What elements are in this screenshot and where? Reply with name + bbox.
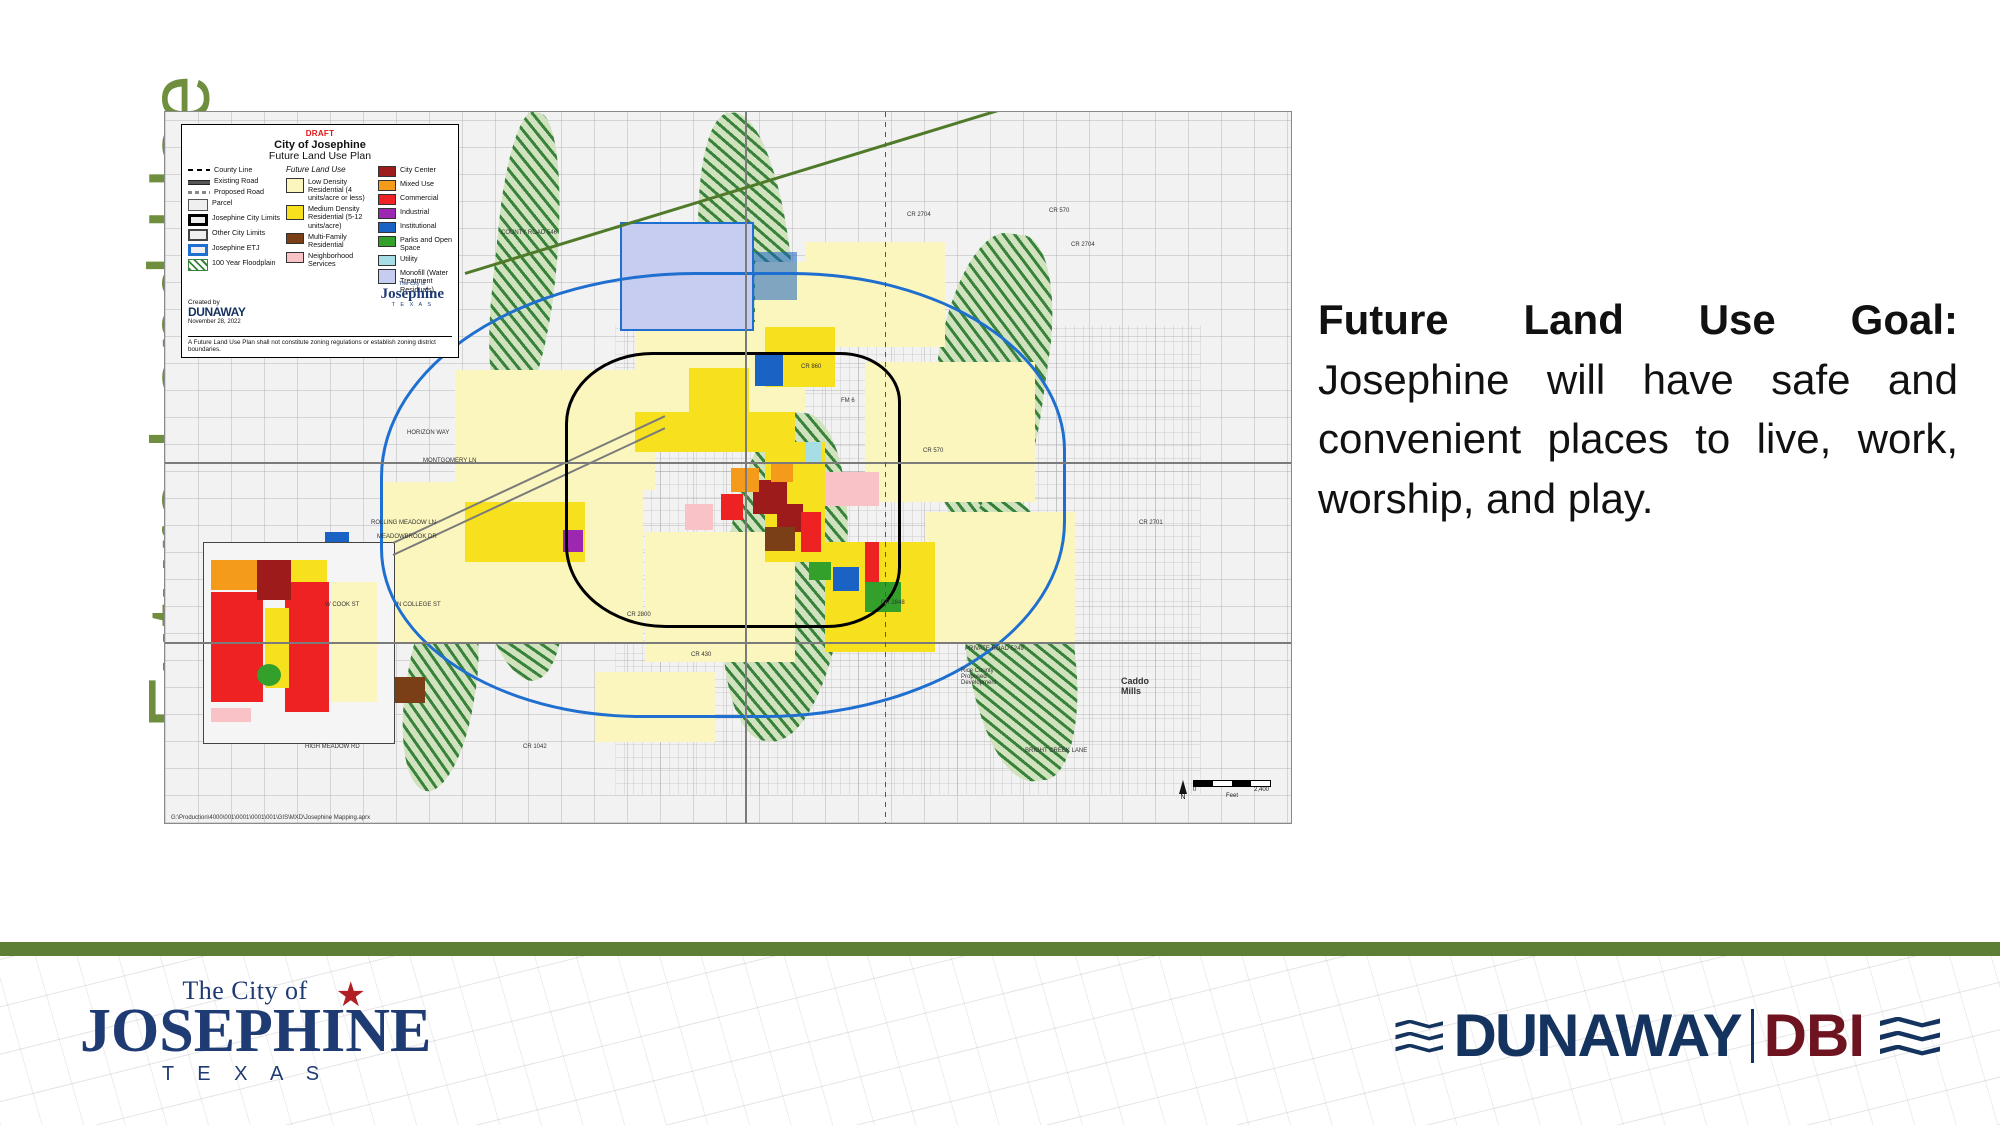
legend-title-plan: Future Land Use Plan	[188, 151, 452, 163]
legend-item-multi-family[interactable]: Multi-Family Residential	[286, 233, 372, 249]
legend-label: Commercial	[400, 194, 458, 202]
scale-bar-graphic	[1193, 780, 1271, 787]
map-label: CaddoMills	[1121, 676, 1149, 696]
multi-family-swatch-icon	[286, 233, 304, 244]
legend-date: November 28, 2022	[188, 319, 452, 326]
map-label: CR 430	[691, 652, 711, 658]
scale-bar: 0 2,400 Feet	[1193, 780, 1271, 799]
goal-body: Josephine will have safe and convenient …	[1318, 356, 1958, 522]
map-legend[interactable]: DRAFT City of Josephine Future Land Use …	[181, 124, 459, 358]
legend-label: Parks and Open Space	[400, 236, 458, 252]
map-label: CR 2800	[627, 612, 651, 618]
scale-unit: Feet	[1193, 793, 1271, 799]
north-arrow-icon	[1179, 780, 1187, 794]
legend-item-medium-density[interactable]: Medium Density Residential (5-12 units/a…	[286, 205, 372, 229]
scale-max: 2,400	[1254, 787, 1269, 793]
legend-label: Industrial	[400, 208, 458, 216]
legend-label: Institutional	[400, 222, 458, 230]
legend-city-logo-main: Josephine	[381, 287, 444, 302]
josephine-city-limits-icon	[188, 214, 208, 226]
legend-item-floodplain[interactable]: 100 Year Floodplain	[188, 259, 280, 271]
dunaway-waves-icon	[1395, 1020, 1443, 1053]
star-icon: ★	[336, 978, 366, 1012]
legend-draft-stamp: DRAFT	[188, 130, 452, 139]
utility-swatch-icon	[378, 255, 396, 266]
legend-item-industrial[interactable]: Industrial	[378, 208, 458, 219]
dunaway-dbi-logo: DUNAWAY DBI	[1395, 1006, 1940, 1066]
legend-label: Proposed Road	[214, 188, 280, 196]
legend-column-boundaries: County Line Existing Road Proposed Road …	[188, 166, 280, 297]
map-label: FM 6	[841, 398, 855, 404]
legend-item-city-center[interactable]: City Center	[378, 166, 458, 177]
map-label: ROLLING MEADOW LN	[371, 520, 436, 526]
low-density-swatch-icon	[286, 178, 304, 193]
map-label: HIGH MEADOW RD	[305, 744, 360, 750]
goal-colon: :	[1944, 296, 1958, 343]
map-label: CR 570	[923, 448, 943, 454]
map-label: Rice CountyProposedDevelopment	[961, 668, 996, 686]
dbi-wordmark: DBI	[1764, 1006, 1864, 1066]
map-label: BRIGHT CREEK LANE	[1025, 748, 1087, 754]
map-label: N COLLEGE ST	[397, 602, 441, 608]
north-arrow: N	[1179, 780, 1187, 801]
existing-road-icon	[188, 177, 210, 185]
legend-label: Medium Density Residential (5-12 units/a…	[308, 205, 372, 229]
inset-commercial	[211, 592, 263, 702]
other-city-limits-icon	[188, 229, 208, 241]
industrial-swatch-icon	[378, 208, 396, 219]
legend-label: Multi-Family Residential	[308, 233, 372, 249]
scale-min: 0	[1193, 787, 1196, 793]
road-line	[745, 112, 747, 824]
city-center-swatch-icon	[378, 166, 396, 177]
josephine-etj-icon	[188, 244, 208, 256]
map-canvas: COUNTY ROAD 546 CR 2704 CR 570 CR 2704 F…	[165, 112, 1291, 823]
legend-item-utility[interactable]: Utility	[378, 255, 458, 266]
legend-label: 100 Year Floodplain	[212, 259, 280, 267]
medium-density-swatch-icon	[286, 205, 304, 220]
legend-item-josephine-etj[interactable]: Josephine ETJ	[188, 244, 280, 256]
legend-item-parcel[interactable]: Parcel	[188, 199, 280, 211]
goal-statement: Future Land Use Goal: Josephine will hav…	[1318, 290, 1958, 529]
inset-medium-density	[291, 560, 327, 582]
legend-label: Existing Road	[214, 177, 280, 185]
legend-column-nonresidential: City Center Mixed Use Commercial Industr…	[378, 166, 458, 297]
north-arrow-label: N	[1179, 794, 1187, 801]
map-label: MONTGOMERY LN	[423, 458, 476, 464]
map-label: CR 570	[1049, 208, 1069, 214]
legend-city-logo-sub: T E X A S	[381, 302, 444, 308]
legend-item-existing-road[interactable]: Existing Road	[188, 177, 280, 185]
legend-item-josephine-city-limits[interactable]: Josephine City Limits	[188, 214, 280, 226]
legend-item-proposed-road[interactable]: Proposed Road	[188, 188, 280, 196]
map-label: CR 860	[801, 364, 821, 370]
map-label: CR 2704	[1071, 242, 1095, 248]
legend-label: Other City Limits	[212, 229, 280, 237]
future-land-use-map[interactable]: COUNTY ROAD 546 CR 2704 CR 570 CR 2704 F…	[164, 111, 1292, 824]
inset-commercial	[285, 582, 329, 712]
road-line	[165, 642, 1292, 644]
dbi-waves-icon	[1880, 1017, 1940, 1056]
map-label: HORIZON WAY	[407, 430, 449, 436]
legend-item-other-city-limits[interactable]: Other City Limits	[188, 229, 280, 241]
legend-label: City Center	[400, 166, 458, 174]
legend-item-neighborhood-services[interactable]: Neighborhood Services	[286, 252, 372, 268]
legend-item-low-density[interactable]: Low Density Residential (4 units/acre or…	[286, 178, 372, 202]
legend-item-institutional[interactable]: Institutional	[378, 222, 458, 233]
legend-label: County Line	[214, 166, 280, 174]
neighborhood-services-swatch-icon	[286, 252, 304, 263]
legend-item-parks-open-space[interactable]: Parks and Open Space	[378, 236, 458, 252]
map-label: CR 1042	[523, 744, 547, 750]
map-label: COUNTY ROAD 546	[501, 230, 557, 236]
commercial-swatch-icon	[378, 194, 396, 205]
city-of-josephine-logo: The City of ★ JOSEPHINE T E X A S	[80, 976, 410, 1086]
footer-accent-rule	[0, 942, 2000, 956]
inset-neighborhood-services	[211, 708, 251, 722]
dunaway-wordmark: DUNAWAY	[1453, 1006, 1740, 1066]
legend-city-logo: The City of Josephine T E X A S	[381, 281, 444, 308]
footer: The City of ★ JOSEPHINE T E X A S DUNAWA…	[0, 956, 2000, 1125]
map-label: W COOK ST	[325, 602, 359, 608]
legend-subheading: Future Land Use	[286, 166, 372, 175]
legend-label: Parcel	[212, 199, 280, 207]
map-label: CR 2704	[907, 212, 931, 218]
county-line-icon	[188, 166, 210, 174]
legend-label: Neighborhood Services	[308, 252, 372, 268]
inset-city-center	[257, 560, 291, 600]
map-label: MEADOWBROOK DR	[377, 534, 437, 540]
proposed-road-icon	[188, 188, 210, 196]
parks-swatch-icon	[378, 236, 396, 247]
inset-mixed-use	[211, 560, 257, 590]
legend-item-county-line[interactable]: County Line	[188, 166, 280, 174]
legend-item-commercial[interactable]: Commercial	[378, 194, 458, 205]
legend-label: Josephine City Limits	[212, 214, 280, 222]
map-label: PRIVATE ROAD 5249	[965, 646, 1024, 652]
goal-label: Future Land Use Goal	[1318, 296, 1944, 343]
map-label: CR 2701	[1139, 520, 1163, 526]
legend-label: Low Density Residential (4 units/acre or…	[308, 178, 372, 202]
mixed-use-swatch-icon	[378, 180, 396, 191]
road-line	[885, 112, 886, 824]
floodplain-icon	[188, 259, 208, 271]
parcel-icon	[188, 199, 208, 211]
map-source-path: G:\Production\4000\001\0001\0001\001\GIS…	[171, 815, 370, 821]
legend-item-mixed-use[interactable]: Mixed Use	[378, 180, 458, 191]
inset-park	[257, 664, 281, 686]
logo-divider	[1751, 1009, 1754, 1063]
road-line	[165, 462, 1292, 464]
legend-disclaimer: A Future Land Use Plan shall not constit…	[188, 336, 452, 353]
map-label: CR 2848	[881, 600, 905, 606]
legend-column-future-land-use: Future Land Use Low Density Residential …	[286, 166, 372, 297]
legend-label: Josephine ETJ	[212, 244, 280, 252]
institutional-swatch-icon	[378, 222, 396, 233]
legend-label: Mixed Use	[400, 180, 458, 188]
city-logo-sub: T E X A S	[80, 1063, 410, 1086]
josephine-city-limits	[565, 352, 901, 628]
legend-label: Utility	[400, 255, 458, 263]
